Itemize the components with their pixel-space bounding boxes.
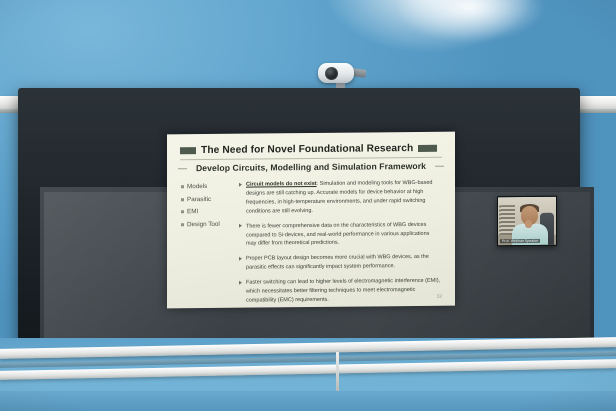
bullet-text: Circuit models do not exist: Simulation … [246,179,441,216]
bullet-square-icon [181,198,184,201]
arrow-bullet-icon [239,182,242,186]
bullet-item: Proper PCB layout design becomes more cr… [239,253,441,273]
lower-wall-base [0,391,616,411]
subtitle-dash-right [435,166,444,167]
arrow-bullet-icon [239,224,242,228]
title-accent-left [180,147,196,154]
slide-title: The Need for Novel Foundational Research [201,143,413,156]
title-accent-right [418,145,437,152]
sidebar-item-label: EMI [187,208,198,215]
slide-sidebar-list: Models Parasitic EMI Design Tool [181,183,233,233]
sidebar-item-label: Design Tool [187,220,220,227]
slide-body-bullets: Circuit models do not exist: Simulation … [239,179,441,309]
bullet-item: Faster switching can lead to higher leve… [239,277,441,306]
sidebar-item-label: Models [187,183,207,190]
slide-title-row: The Need for Novel Foundational Research [167,141,455,159]
video-person-hand [525,220,532,228]
bullet-square-icon [181,210,184,213]
bullet-square-icon [181,185,184,188]
subtitle-dash-left [178,168,187,169]
sidebar-item-label: Parasitic [187,195,211,202]
slide-page-number: 32 [436,294,442,300]
bullet-text: Proper PCB layout design becomes more cr… [246,253,441,273]
slide-subtitle: Develop Circuits, Modelling and Simulati… [167,161,455,174]
conference-room-photo: SonicM The Need for Novel Foundational R… [0,0,616,411]
bullet-item: There is fewer comprehensive data on the… [239,220,441,249]
camera-lens-icon [325,67,338,80]
bullet-text: Faster switching can lead to higher leve… [246,277,441,306]
sidebar-item-models: Models [181,183,233,190]
sidebar-item-design-tool: Design Tool [181,220,233,227]
bullet-lead: Circuit models do not exist [246,181,317,188]
video-participant-tile[interactable]: Prof. Webinar Speaker [497,196,557,247]
presentation-slide: The Need for Novel Foundational Research… [167,132,455,309]
panel-seam [336,352,339,396]
arrow-bullet-icon [239,280,242,284]
arrow-bullet-icon [239,257,242,261]
bullet-text: There is fewer comprehensive data on the… [246,220,441,249]
sidebar-item-parasitic: Parasitic [181,195,233,202]
bullet-item: Circuit models do not exist: Simulation … [239,179,441,217]
ceiling-light-glare [395,0,545,42]
bullet-square-icon [181,223,184,226]
sidebar-item-emi: EMI [181,208,233,215]
participant-name-label: Prof. Webinar Speaker [500,239,540,243]
